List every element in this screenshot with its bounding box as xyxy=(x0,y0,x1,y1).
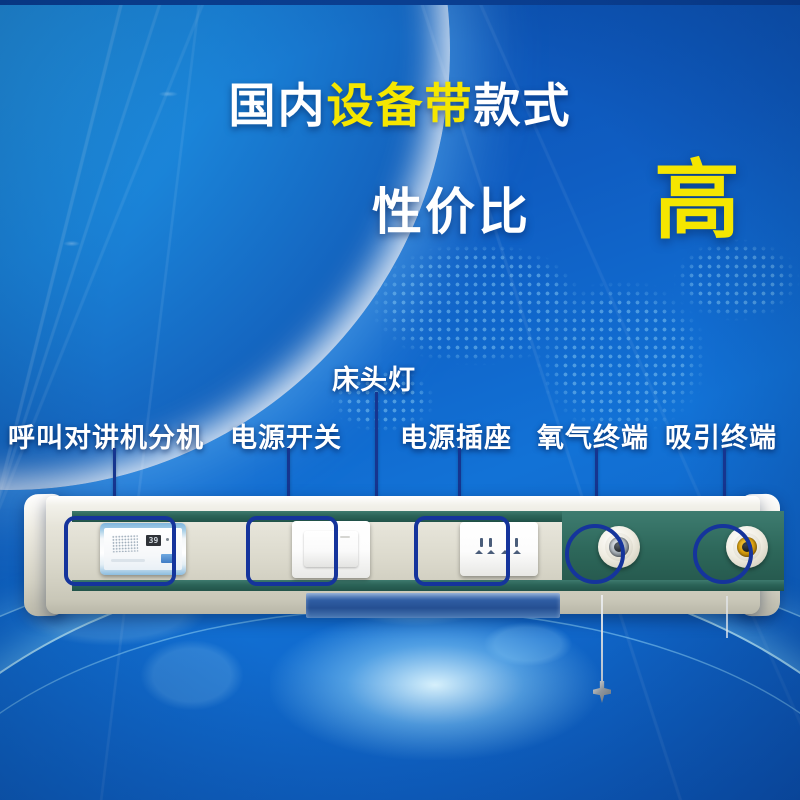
bed-lamp-diffuser[interactable] xyxy=(306,593,560,618)
highlight-box-power-switch xyxy=(246,516,338,586)
headline-seg-2: 设备带 xyxy=(327,79,474,132)
callout-label-power-socket: 电源插座 xyxy=(400,416,512,455)
highlight-box-intercom xyxy=(64,516,176,586)
socket-slot-neutral xyxy=(515,538,518,547)
top-edge-band xyxy=(0,0,800,5)
socket-slot-angled-b xyxy=(513,550,521,554)
highlight-box-power-socket xyxy=(414,516,510,586)
headline-line-2-block: 性价比 高 xyxy=(0,158,800,248)
callout-label-oxygen-terminal: 氧气终端 xyxy=(537,416,649,455)
pull-cord-line[interactable] xyxy=(601,595,603,687)
highlight-circle-oxygen xyxy=(565,524,625,584)
callout-label-power-switch: 电源开关 xyxy=(230,416,342,455)
rocker-indicator-icon xyxy=(340,536,350,538)
highlight-circle-suction xyxy=(693,524,753,584)
callout-label-suction-terminal: 吸引终端 xyxy=(665,416,777,455)
headline-block: 国内设备带款式 xyxy=(0,82,800,129)
callout-label-nurse-call-intercom: 呼叫对讲机分机 xyxy=(8,416,204,455)
headline-line-2: 性价比 xyxy=(372,172,531,244)
callout-label-bed-lamp: 床头灯 xyxy=(332,358,416,397)
secondary-cord-line xyxy=(726,596,728,638)
headline-seg-1: 国内 xyxy=(229,79,327,132)
headline-emphasis-word: 高 xyxy=(654,158,740,244)
headline-line-1: 国内设备带款式 xyxy=(0,82,800,129)
product-banner: 国内设备带款式 性价比 高 呼叫对讲机分机电源开关床头灯电源插座氧气终端吸引终端… xyxy=(0,0,800,800)
headline-seg-3: 款式 xyxy=(474,79,572,132)
